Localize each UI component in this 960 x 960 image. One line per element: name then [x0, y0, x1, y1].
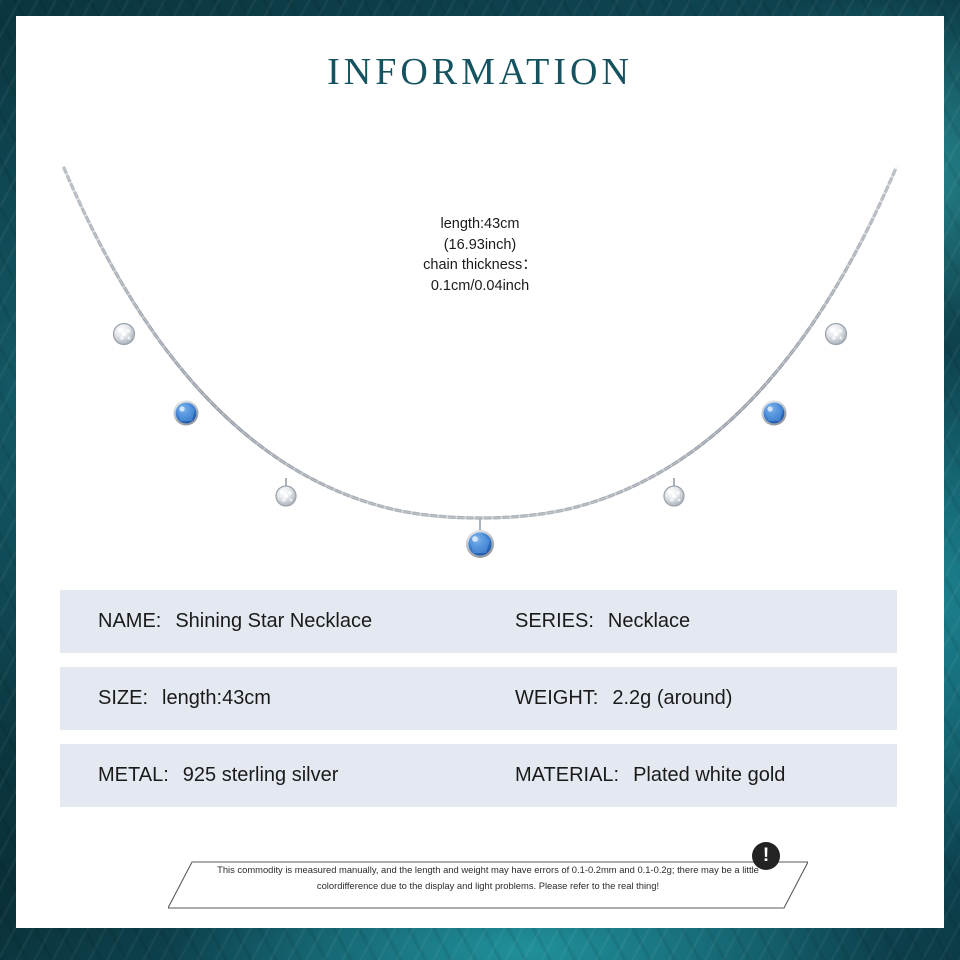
info-label-metal: METAL:	[98, 764, 169, 787]
blue-gem-right	[762, 401, 787, 426]
pave-disc-lower-left	[276, 478, 296, 506]
info-label-material: MATERIAL:	[515, 764, 619, 787]
disclaimer-banner: This commodity is measured manually, and…	[168, 848, 808, 910]
pave-disc-upper-right	[826, 324, 847, 345]
disclaimer-text: This commodity is measured manually, and…	[208, 862, 768, 895]
info-cell-material: MATERIAL: Plated white gold	[515, 764, 785, 787]
info-label-series: SERIES:	[515, 610, 594, 633]
blue-gem-left	[174, 401, 199, 426]
info-value-name: Shining Star Necklace	[175, 610, 372, 633]
info-value-weight: 2.2g (around)	[612, 687, 732, 710]
spec-line-thickness-label: chain thickness：	[380, 255, 580, 276]
pave-disc-upper-left	[114, 324, 135, 345]
table-row: SIZE: length:43cm WEIGHT: 2.2g (around)	[60, 667, 897, 730]
info-cell-size: SIZE: length:43cm	[98, 687, 271, 710]
information-card: INFORMATION	[16, 16, 944, 928]
size-spec-overlay: length:43cm (16.93inch) chain thickness：…	[380, 214, 580, 296]
blue-gem-center-drop	[466, 518, 494, 558]
info-value-series: Necklace	[608, 610, 690, 633]
info-table: NAME: Shining Star Necklace SERIES: Neck…	[60, 590, 897, 821]
info-value-metal: 925 sterling silver	[183, 764, 339, 787]
pave-disc-lower-right	[664, 478, 684, 506]
exclamation-glyph: !	[763, 846, 769, 865]
product-photo: length:43cm (16.93inch) chain thickness：…	[16, 126, 944, 576]
info-value-size: length:43cm	[162, 687, 271, 710]
info-cell-weight: WEIGHT: 2.2g (around)	[515, 687, 732, 710]
spec-line-length: length:43cm	[380, 214, 580, 235]
info-label-weight: WEIGHT:	[515, 687, 598, 710]
poster-background: INFORMATION	[0, 0, 960, 960]
info-label-size: SIZE:	[98, 687, 148, 710]
spec-line-inches: (16.93inch)	[380, 235, 580, 256]
info-label-name: NAME:	[98, 610, 161, 633]
info-cell-series: SERIES: Necklace	[515, 610, 690, 633]
info-value-material: Plated white gold	[633, 764, 785, 787]
disclaimer-line-1: This commodity is measured manually, and…	[217, 864, 674, 875]
warning-icon: !	[752, 842, 780, 870]
page-title: INFORMATION	[16, 50, 944, 94]
table-row: NAME: Shining Star Necklace SERIES: Neck…	[60, 590, 897, 653]
table-row: METAL: 925 sterling silver MATERIAL: Pla…	[60, 744, 897, 807]
info-cell-metal: METAL: 925 sterling silver	[98, 764, 338, 787]
spec-line-thickness-value: 0.1cm/0.04inch	[380, 276, 580, 297]
info-cell-name: NAME: Shining Star Necklace	[98, 610, 372, 633]
